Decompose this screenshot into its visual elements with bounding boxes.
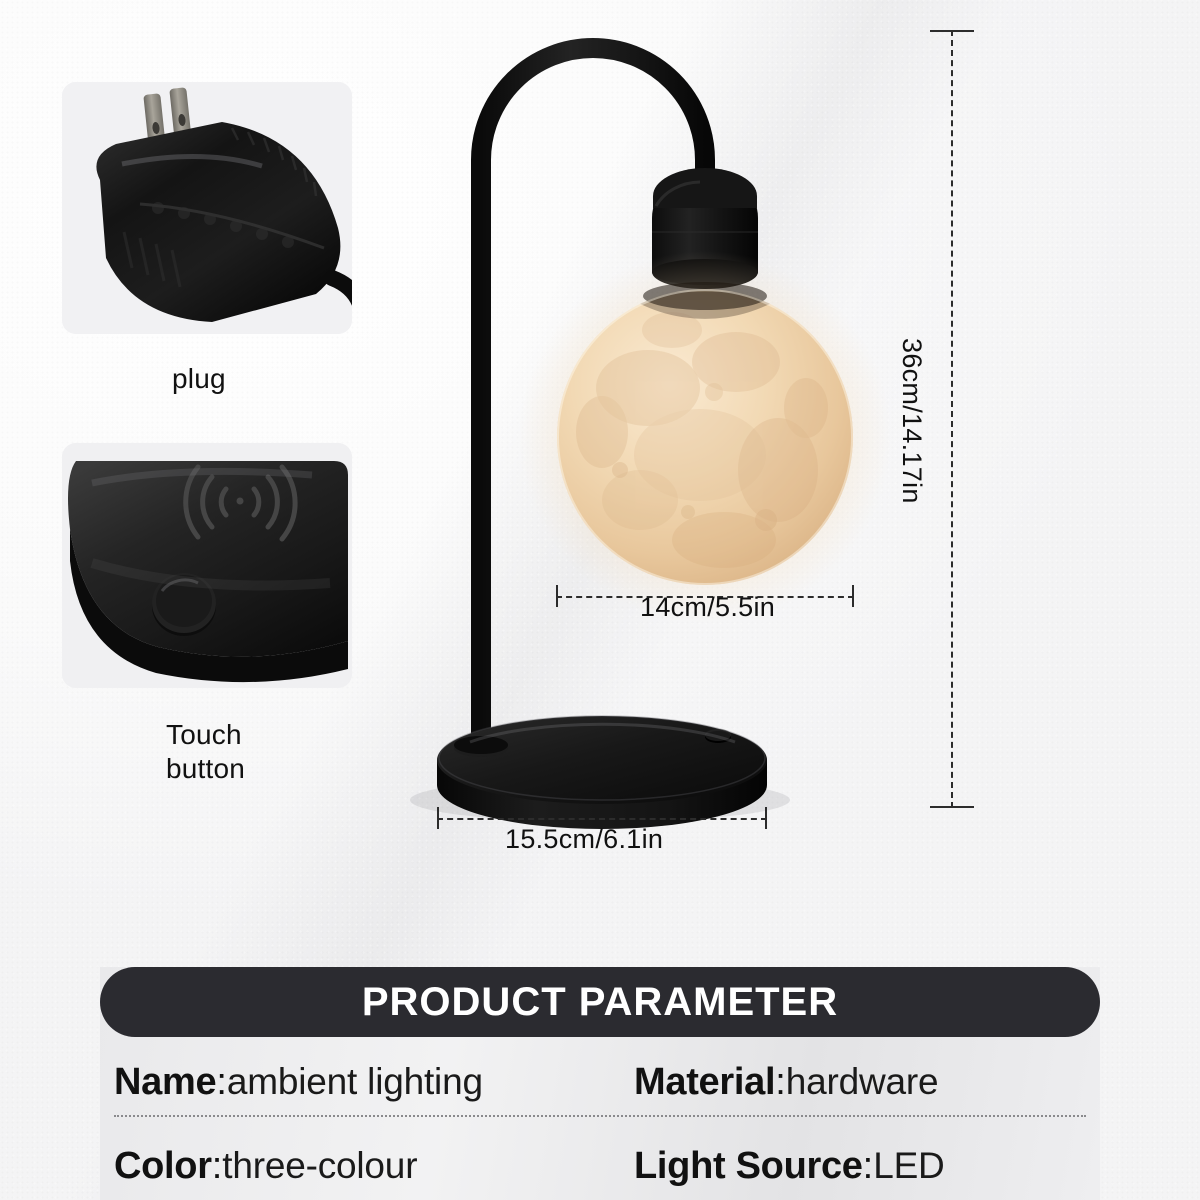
moon-width-tick-left [556,585,558,607]
param-colon: : [775,1061,786,1104]
param-value: hardware [786,1061,939,1103]
param-cell-light-source: Light Source : LED [634,1145,1086,1188]
param-colon: : [212,1145,223,1188]
touch-button-thumbnail-card [62,443,352,688]
base-width-label: 15.5cm/6.1in [505,824,663,855]
product-infographic: plug [0,0,1200,1200]
plug-caption: plug [172,362,226,396]
height-label: 36cm/14.17in [896,338,927,504]
table-row: Color : three-colour Light Source : LED [114,1135,1086,1197]
param-key: Color [114,1145,212,1188]
plug-thumbnail-card [62,82,352,334]
touch-button-icon [62,443,352,688]
height-dimension-line [951,30,953,808]
base-width-tick-right [765,807,767,829]
page-title: PRODUCT PARAMETER [362,980,838,1025]
param-key: Name [114,1061,216,1104]
moon-width-label: 14cm/5.5in [640,592,775,623]
power-adapter-icon [62,82,352,334]
param-colon: : [863,1145,874,1188]
height-tick-top [930,30,974,32]
param-cell-material: Material : hardware [634,1061,1086,1104]
param-cell-name: Name : ambient lighting [114,1061,634,1104]
row-separator [114,1115,1086,1117]
table-row: Name : ambient lighting Material : hardw… [114,1051,1086,1113]
moon-width-tick-right [852,585,854,607]
param-colon: : [216,1061,227,1104]
param-key: Light Source [634,1145,863,1188]
param-key: Material [634,1061,775,1104]
base-width-tick-left [437,807,439,829]
lamp-base [437,716,767,829]
base-width-dimension-line [437,818,767,820]
param-value: three-colour [222,1145,417,1187]
touch-button-caption: Touch button [166,718,245,786]
height-tick-bottom [930,806,974,808]
param-cell-color: Color : three-colour [114,1145,634,1188]
product-parameter-header: PRODUCT PARAMETER [100,967,1100,1037]
product-parameter-panel: PRODUCT PARAMETER Name : ambient lightin… [100,967,1100,1200]
param-value: LED [873,1145,944,1187]
param-value: ambient lighting [227,1061,483,1103]
